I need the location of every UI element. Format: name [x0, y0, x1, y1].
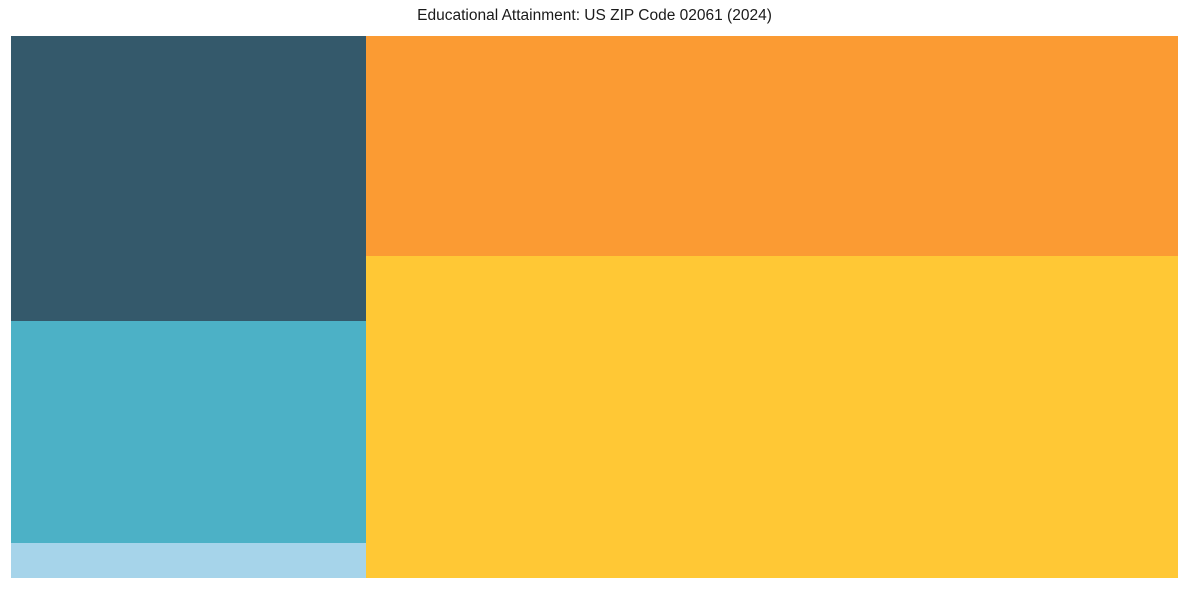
treemap-tile-label-no-high-school-diploma: No high school diploma [17, 547, 142, 561]
treemap-plot-area: Bachelor's degree Graduate or profession… [11, 36, 1178, 578]
treemap-tile-high-school-graduate[interactable]: High school graduate [366, 256, 1178, 578]
treemap-tile-label-some-college-or-associate: Some college or associate degree [372, 40, 553, 54]
treemap-column-right: Some college or associate degree High sc… [366, 36, 1178, 578]
treemap-tile-label-graduate-degree: Graduate or professional degree [17, 325, 190, 339]
treemap-figure: Educational Attainment: US ZIP Code 0206… [0, 0, 1189, 590]
treemap-tile-graduate-degree[interactable]: Graduate or professional degree [11, 321, 366, 543]
treemap-column-left: Bachelor's degree Graduate or profession… [11, 36, 366, 578]
chart-title: Educational Attainment: US ZIP Code 0206… [0, 6, 1189, 26]
treemap-tile-label-high-school-graduate: High school graduate [372, 260, 485, 274]
treemap-tile-no-high-school-diploma[interactable]: No high school diploma [11, 543, 366, 578]
treemap-tile-bachelors-degree[interactable]: Bachelor's degree [11, 36, 366, 321]
treemap-tile-label-bachelors-degree: Bachelor's degree [17, 40, 113, 54]
treemap-tile-some-college-or-associate[interactable]: Some college or associate degree [366, 36, 1178, 256]
